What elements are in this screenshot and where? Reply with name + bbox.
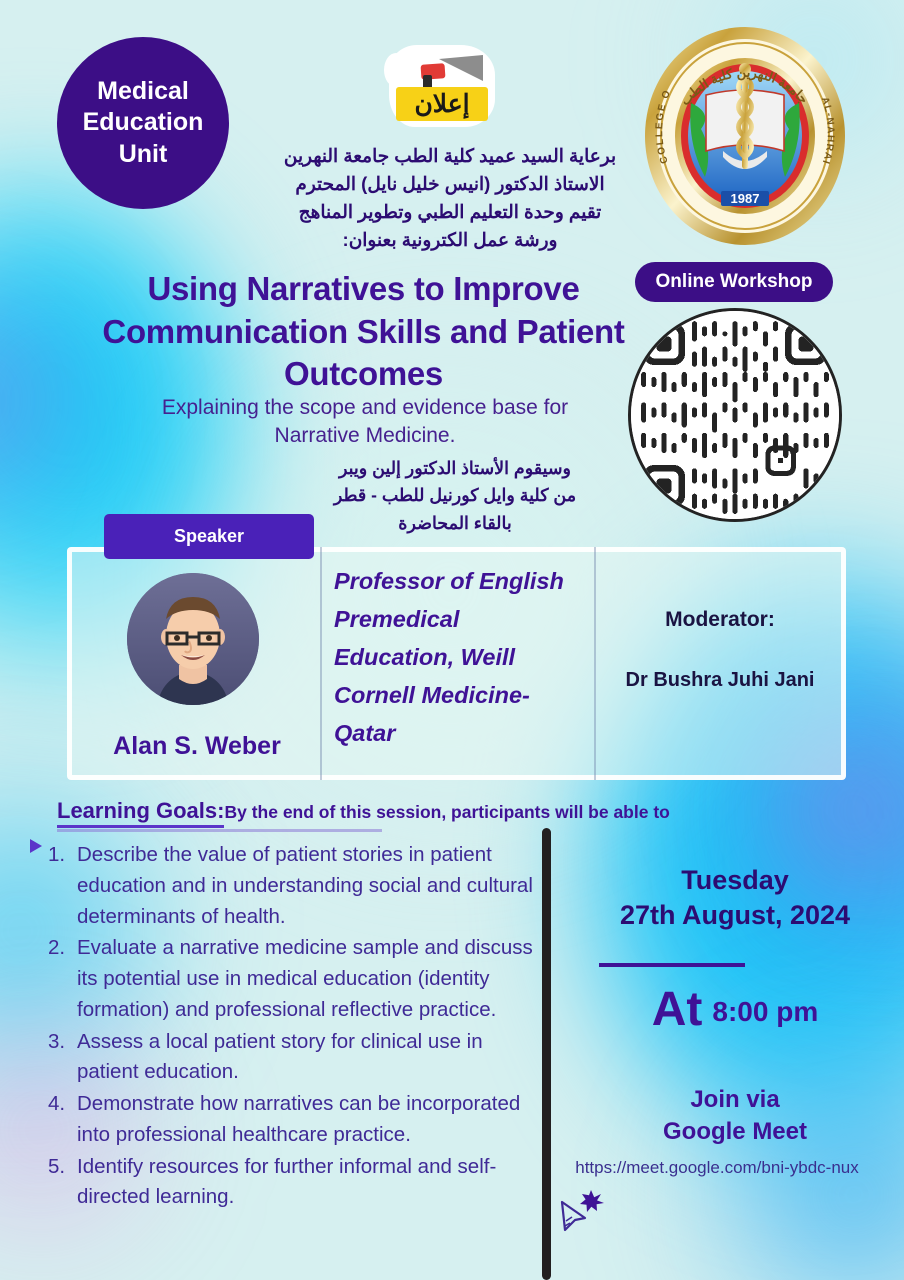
list-item: Identify resources for further informal …: [48, 1152, 535, 1214]
workshop-subtitle: Explaining the scope and evidence base f…: [140, 394, 590, 449]
arabic-header-line-1: برعاية السيد عميد كلية الطب جامعة النهري…: [264, 142, 636, 170]
arabic-header-line-4: ورشة عمل الكترونية بعنوان:: [264, 226, 636, 254]
date-time-separator: [599, 963, 745, 967]
workshop-title: Using Narratives to Improve Communicatio…: [96, 268, 631, 396]
event-date-block: Tuesday 27th August, 2024: [570, 863, 900, 933]
arabic-header-line-3: تقيم وحدة التعليم الطبي وتطوير المناهج: [264, 198, 636, 226]
speaker-title: Professor of English Premedical Educatio…: [334, 562, 586, 752]
list-item: Evaluate a narrative medicine sample and…: [48, 933, 535, 1025]
unit-badge-line2: Education: [83, 107, 204, 139]
list-item: Assess a local patient story for clinica…: [48, 1027, 535, 1089]
announcement-sticker: إعلان: [389, 45, 495, 127]
event-date: 27th August, 2024: [570, 898, 900, 933]
list-item: Demonstrate how narratives can be incorp…: [48, 1089, 535, 1151]
arabic-speaker-line-3: بالقاء المحاضرة: [290, 510, 620, 537]
card-divider-2: [594, 547, 596, 780]
megaphone-icon: [421, 53, 483, 91]
bullet-arrow-icon: [30, 839, 42, 853]
learning-goals-header: Learning Goals:By the end of this sessio…: [57, 798, 787, 824]
announcement-label: إعلان: [396, 87, 488, 121]
learning-goals-underline: [57, 829, 382, 832]
google-meet-label: Google Meet: [570, 1116, 900, 1148]
speaker-headshot: [127, 573, 259, 705]
join-via-block: Join via Google Meet: [570, 1084, 900, 1148]
arabic-speaker-block: وسيقوم الأستاذ الدكتور إلين ويبر من كلية…: [290, 455, 620, 537]
speaker-name: Alan S. Weber: [72, 732, 322, 761]
speaker-badge: Speaker: [104, 514, 314, 559]
event-time-block: At8:00 pm: [570, 982, 900, 1037]
join-via-label: Join via: [570, 1084, 900, 1116]
learning-goals-title: Learning Goals:: [57, 798, 224, 828]
learning-goals-list: Describe the value of patient stories in…: [48, 840, 535, 1214]
at-label: At: [652, 983, 703, 1036]
svg-text:1987: 1987: [731, 191, 760, 206]
al-nahrain-college-of-medicine-logo: 1987 COLLEGE OF MEDICINE AL-NAHRAIN UNIV…: [643, 25, 848, 247]
arabic-header-line-2: الاستاذ الدكتور (انيس خليل نايل) المحترم: [264, 170, 636, 198]
event-time: 8:00 pm: [712, 996, 818, 1027]
unit-badge-line1: Medical: [97, 76, 189, 108]
medical-education-unit-badge: Medical Education Unit: [57, 37, 229, 209]
qr-code[interactable]: [628, 308, 842, 522]
learning-goals-subtitle: By the end of this session, participants…: [224, 802, 669, 822]
event-day: Tuesday: [570, 863, 900, 898]
moderator-label: Moderator:: [600, 608, 840, 632]
list-item: Describe the value of patient stories in…: [48, 840, 535, 932]
online-workshop-badge: Online Workshop: [635, 262, 833, 302]
arabic-header-block: برعاية السيد عميد كلية الطب جامعة النهري…: [264, 142, 636, 254]
poster-root: Medical Education Unit إعلان: [0, 0, 904, 1280]
moderator-name: Dr Bushra Juhi Jani: [600, 669, 840, 692]
google-meet-url[interactable]: https://meet.google.com/bni-ybdc-nux: [530, 1158, 904, 1178]
vertical-divider: [542, 828, 551, 1280]
arabic-speaker-line-1: وسيقوم الأستاذ الدكتور إلين ويبر: [290, 455, 620, 482]
arabic-speaker-line-2: من كلية وايل كورنيل للطب - قطر: [290, 482, 620, 509]
unit-badge-line3: Unit: [119, 139, 168, 171]
cursor-click-icon: [558, 1186, 604, 1238]
